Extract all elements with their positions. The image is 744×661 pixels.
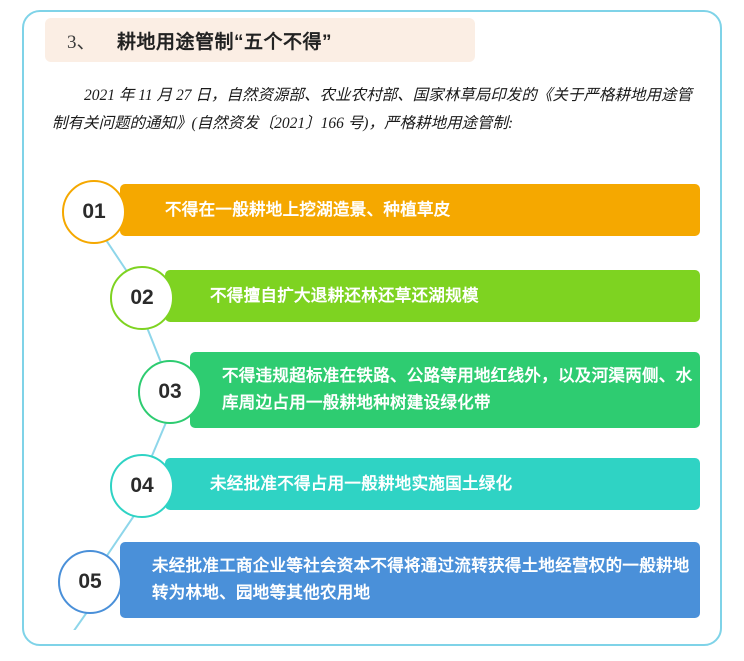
item-number-02: 02 bbox=[130, 286, 153, 310]
section-number: 3、 bbox=[45, 27, 117, 54]
item-number-04: 04 bbox=[130, 474, 153, 498]
intro-paragraph-text: 2021 年 11 月 27 日，自然资源部、农业农村部、国家林草局印发的《关于… bbox=[52, 87, 692, 132]
item-bar-03: 不得违规超标准在铁路、公路等用地红线外，以及河渠两侧、水库周边占用一般耕地种树建… bbox=[190, 352, 700, 428]
section-title: 耕地用途管制“五个不得” bbox=[117, 27, 332, 54]
item-text-04: 未经批准不得占用一般耕地实施国土绿化 bbox=[210, 471, 512, 498]
item-circle-04: 04 bbox=[110, 454, 174, 518]
intro-paragraph: 2021 年 11 月 27 日，自然资源部、农业农村部、国家林草局印发的《关于… bbox=[52, 82, 692, 138]
item-bar-05: 未经批准工商企业等社会资本不得将通过流转获得土地经营权的一般耕地转为林地、园地等… bbox=[120, 542, 700, 618]
item-number-03: 03 bbox=[158, 380, 181, 404]
item-text-01: 不得在一般耕地上挖湖造景、种植草皮 bbox=[165, 197, 451, 224]
item-bar-01: 不得在一般耕地上挖湖造景、种植草皮 bbox=[120, 184, 700, 236]
item-number-01: 01 bbox=[82, 200, 105, 224]
items-list: 不得在一般耕地上挖湖造景、种植草皮 01 不得擅自扩大退耕还林还草还湖规模 02… bbox=[0, 160, 744, 630]
item-text-02: 不得擅自扩大退耕还林还草还湖规模 bbox=[210, 283, 479, 310]
item-circle-02: 02 bbox=[110, 266, 174, 330]
item-text-05: 未经批准工商企业等社会资本不得将通过流转获得土地经营权的一般耕地转为林地、园地等… bbox=[152, 553, 700, 607]
item-bar-02: 不得擅自扩大退耕还林还草还湖规模 bbox=[165, 270, 700, 322]
item-circle-01: 01 bbox=[62, 180, 126, 244]
item-bar-04: 未经批准不得占用一般耕地实施国土绿化 bbox=[165, 458, 700, 510]
item-circle-03: 03 bbox=[138, 360, 202, 424]
item-text-03: 不得违规超标准在铁路、公路等用地红线外，以及河渠两侧、水库周边占用一般耕地种树建… bbox=[222, 363, 700, 417]
item-circle-05: 05 bbox=[58, 550, 122, 614]
item-number-05: 05 bbox=[78, 570, 101, 594]
page-root: 3、 耕地用途管制“五个不得” 2021 年 11 月 27 日，自然资源部、农… bbox=[0, 0, 744, 661]
section-title-bar: 3、 耕地用途管制“五个不得” bbox=[45, 18, 475, 62]
